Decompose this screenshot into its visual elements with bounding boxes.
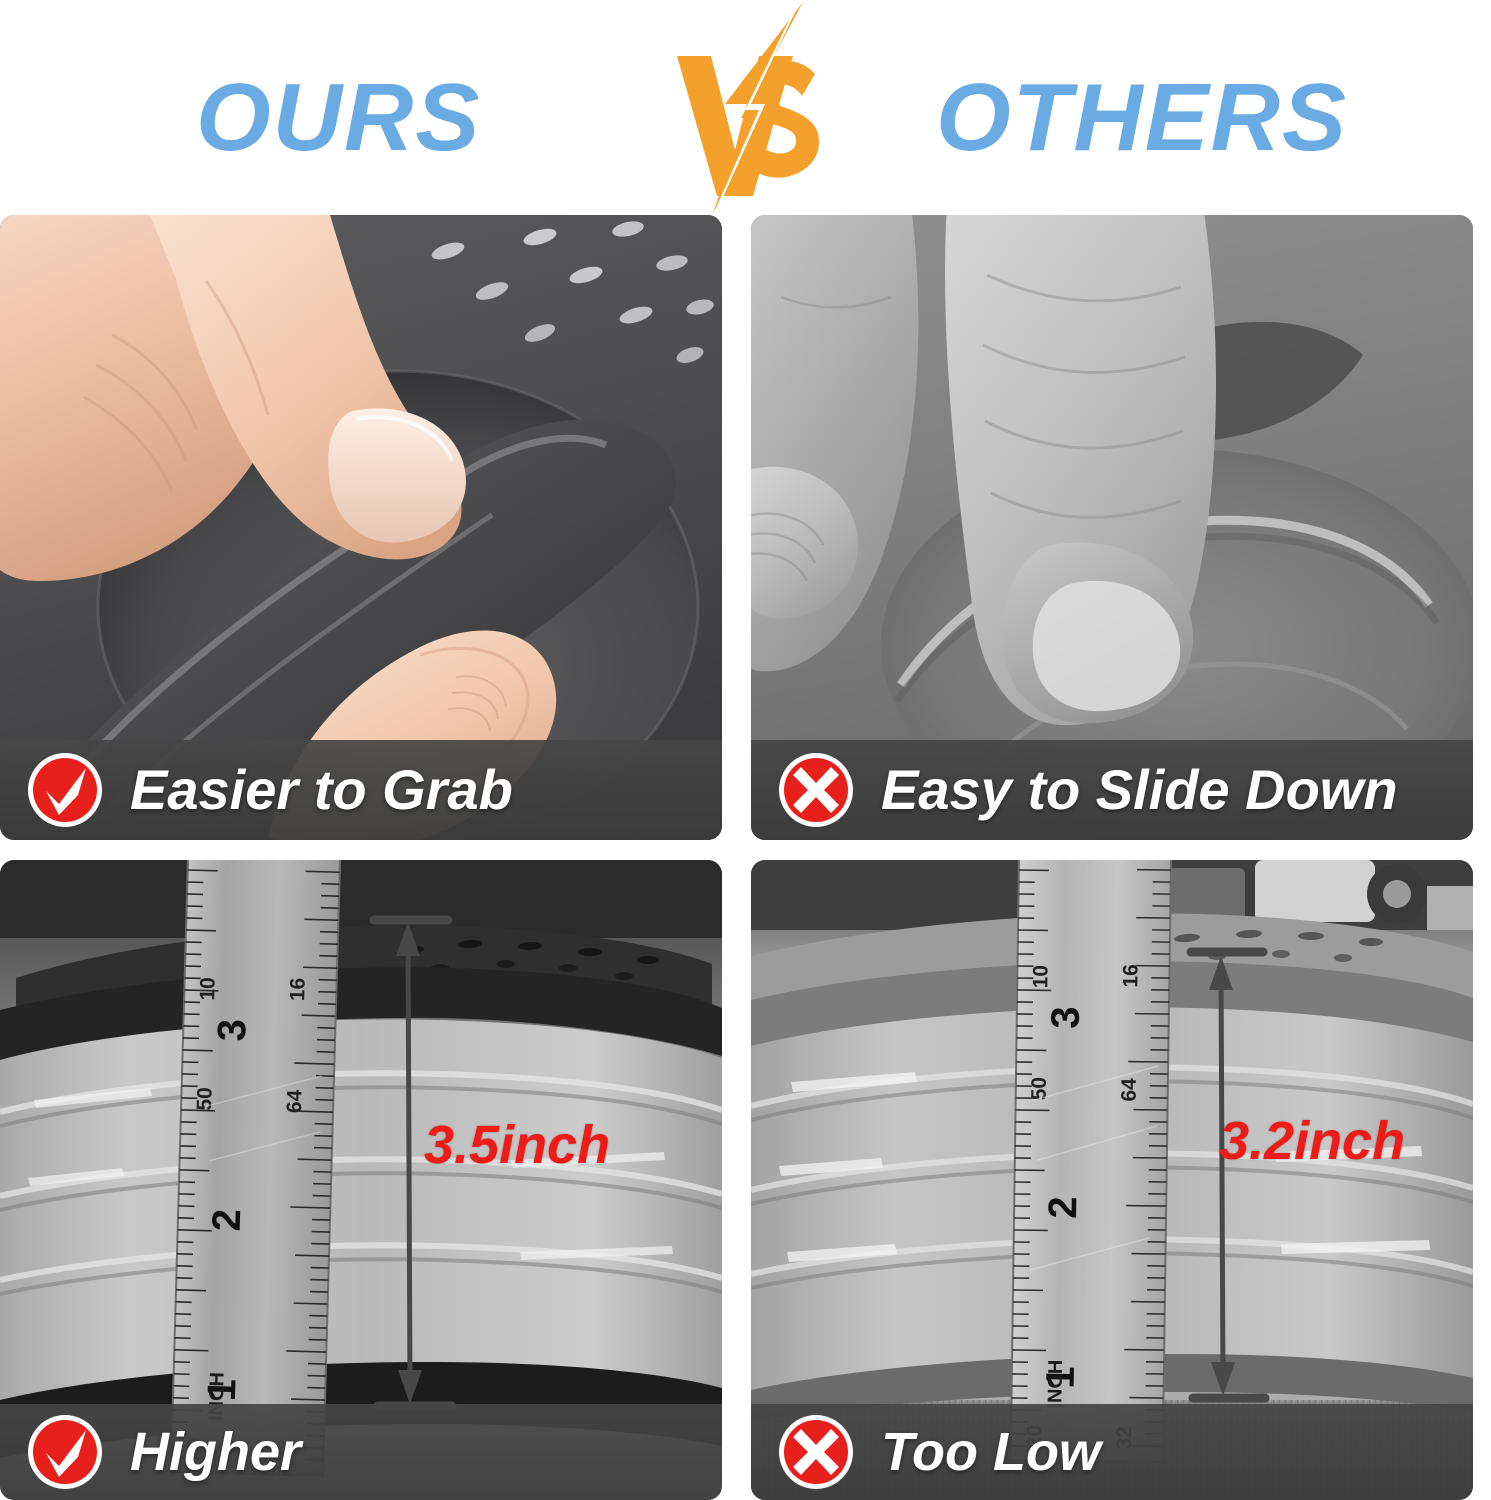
measurement-value-others: 3.2inch [1219, 1114, 1405, 1168]
x-circle-icon [777, 751, 855, 829]
ruler-tick-64: 64 [283, 1089, 307, 1113]
others-title: OTHERS [936, 70, 1348, 166]
ruler-tick-16: 16 [1119, 964, 1142, 988]
comparison-header: OURS VS OTHERS [0, 0, 1491, 215]
ruler-tick-16: 16 [286, 977, 310, 1001]
check-circle-icon [26, 751, 104, 829]
label-bar-ours-height: Higher [0, 1404, 722, 1500]
ruler-tick-10: 10 [196, 977, 220, 1001]
ruler-inch-2: 2 [205, 1208, 250, 1231]
ruler-tick-10: 10 [1029, 965, 1052, 989]
ruler-inch-3: 3 [210, 1018, 255, 1041]
panel-others-grip: Easy to Slide Down [751, 215, 1473, 840]
label-ours-height: Higher [130, 1425, 301, 1479]
label-bar-others-height: Too Low [751, 1404, 1473, 1500]
label-others-height: Too Low [881, 1425, 1101, 1479]
label-ours-grip: Easier to Grab [130, 762, 513, 818]
steel-ruler: 10 50 20 16 64 32 3 2 1 INCH [1011, 860, 1171, 1462]
panel-ours-height: 10 50 20 16 64 32 3 2 1 INCH [0, 860, 722, 1500]
ruler-tick-50: 50 [193, 1087, 217, 1111]
ours-title: OURS [196, 70, 481, 166]
ruler-inch-2: 2 [1041, 1196, 1085, 1219]
ruler-unit-mark: INCH [1044, 1360, 1067, 1409]
panel-others-height: 10 50 20 16 64 32 3 2 1 INCH [751, 860, 1473, 1500]
versus-badge: VS [655, 0, 845, 215]
x-circle-icon [777, 1413, 855, 1491]
panel-ours-grip: Easier to Grab [0, 215, 722, 840]
glass-lid-stack [0, 925, 722, 1458]
ruler-inch-3: 3 [1044, 1006, 1088, 1029]
finger-pressing [945, 215, 1216, 725]
ruler-tick-64: 64 [1118, 1078, 1141, 1102]
check-circle-icon [26, 1413, 104, 1491]
comparison-grid: Easier to Grab [0, 215, 1491, 1500]
label-bar-others-grip: Easy to Slide Down [751, 740, 1473, 840]
measurement-value-ours: 3.5inch [424, 1118, 610, 1172]
steel-ruler: 10 50 20 16 64 32 3 2 1 INCH [171, 860, 340, 1476]
label-others-grip: Easy to Slide Down [881, 762, 1398, 818]
label-bar-ours-grip: Easier to Grab [0, 740, 722, 840]
